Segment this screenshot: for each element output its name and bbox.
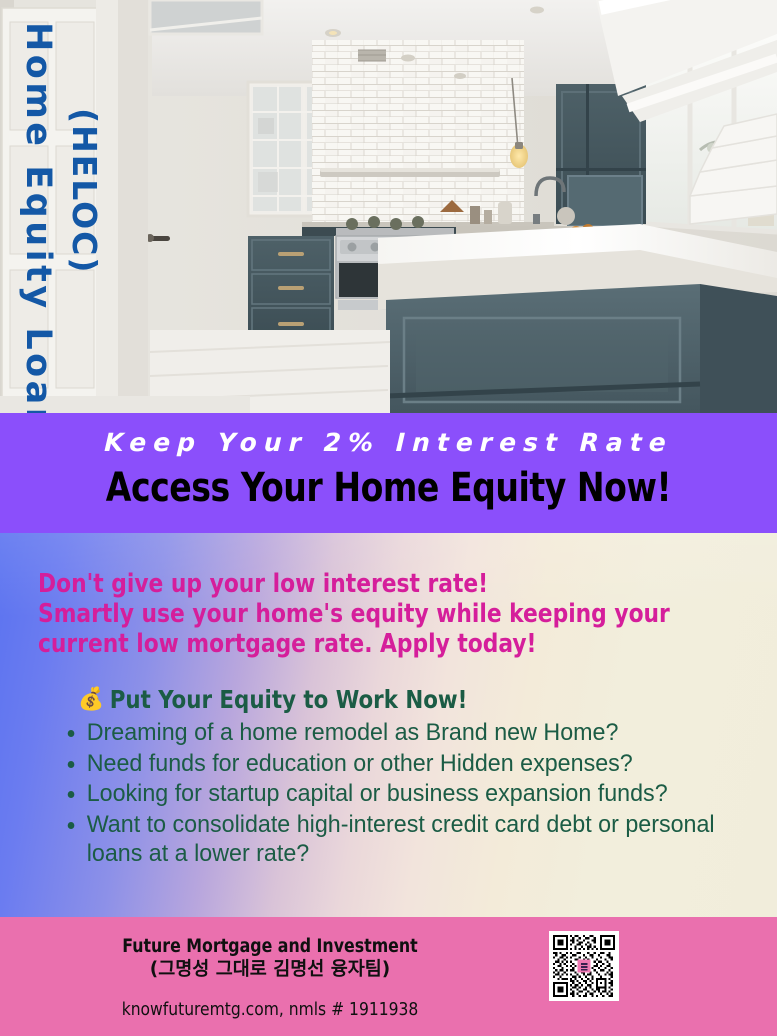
purple-banner: Keep Your 2% Interest Rate Access Your H… <box>0 413 777 533</box>
lead-line-2: Smartly use your home's equity while kee… <box>38 599 738 629</box>
company-name: Future Mortgage and Investment <box>14 935 527 958</box>
list-item: Looking for startup capital or business … <box>62 779 727 809</box>
lead-line-3: current low mortgage rate. Apply today! <box>38 629 738 659</box>
list-item: Want to consolidate high-interest credit… <box>62 810 727 869</box>
money-bag-icon: 💰 <box>78 689 104 711</box>
qr-code-image <box>553 935 615 997</box>
benefits-list: Dreaming of a home remodel as Brand new … <box>62 718 741 869</box>
footer-contact-block: Future Mortgage and Investment (그명성 그대로 … <box>0 935 540 1020</box>
heloc-flyer: Home Equity Loan (HELOC) Keep Your 2% In… <box>0 0 777 1036</box>
list-item: Dreaming of a home remodel as Brand new … <box>62 718 727 748</box>
banner-headline: Access Your Home Equity Now! <box>31 465 746 511</box>
website-and-nmls[interactable]: knowfuturemtg.com, nmls # 1911938 <box>11 999 529 1020</box>
company-name-korean: (그명성 그대로 김명선 융자팀) <box>0 958 540 982</box>
banner-kicker-text: Keep Your 2% Interest Rate <box>0 428 777 457</box>
lead-line-1: Don't give up your low interest rate! <box>38 569 738 599</box>
qr-code[interactable] <box>549 931 619 1001</box>
equity-heading-label: Put Your Equity to Work Now! <box>110 685 468 714</box>
body-section: Don't give up your low interest rate! Sm… <box>0 533 777 917</box>
footer-section: Future Mortgage and Investment (그명성 그대로 … <box>0 917 777 1036</box>
hero-vertical-headline: Home Equity Loan (HELOC) <box>0 0 150 413</box>
equity-heading: 💰 Put Your Equity to Work Now! <box>78 685 742 714</box>
list-item: Need funds for education or other Hidden… <box>62 749 727 779</box>
hero-section: Home Equity Loan (HELOC) <box>0 0 777 413</box>
hero-title-vertical: Home Equity Loan <box>18 22 58 413</box>
lead-paragraph: Don't give up your low interest rate! Sm… <box>0 533 738 659</box>
hero-subtitle-heloc: (HELOC) <box>65 108 104 274</box>
